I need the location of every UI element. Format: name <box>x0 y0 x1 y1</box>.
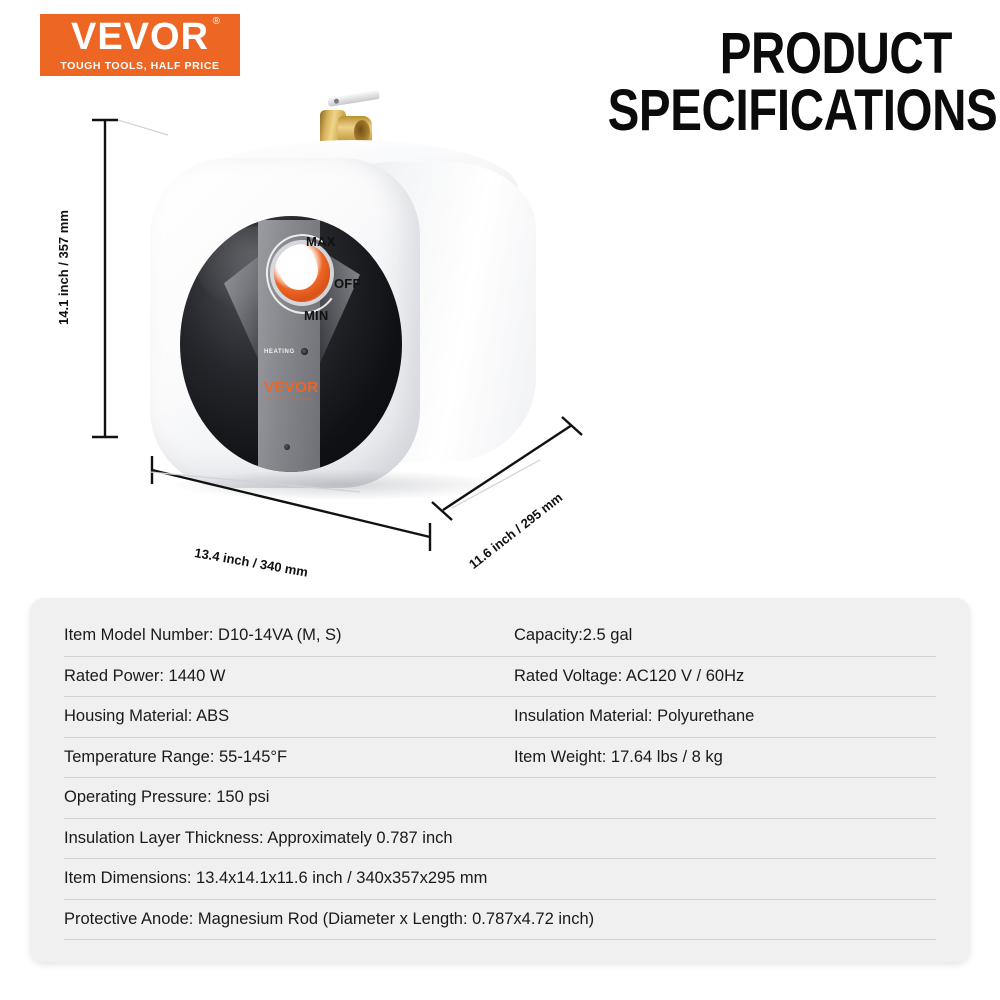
spec-capacity: Capacity:2.5 gal <box>500 616 936 656</box>
registered-trademark-icon: ® <box>213 17 221 27</box>
spec-item-model-number: Item Model Number: D10-14VA (M, S) <box>64 616 500 656</box>
spec-row: Insulation Layer Thickness: Approximatel… <box>64 819 936 860</box>
spec-row: Item Model Number: D10-14VA (M, S) Capac… <box>64 616 936 657</box>
spec-item-dimensions: Item Dimensions: 13.4x14.1x11.6 inch / 3… <box>64 859 936 899</box>
spec-row: Housing Material: ABS Insulation Materia… <box>64 697 936 738</box>
spec-rated-power: Rated Power: 1440 W <box>64 657 500 697</box>
specifications-panel: Item Model Number: D10-14VA (M, S) Capac… <box>30 598 970 962</box>
spec-insulation-material: Insulation Material: Polyurethane <box>500 697 936 737</box>
spec-row: Operating Pressure: 150 psi <box>64 778 936 819</box>
spec-housing-material: Housing Material: ABS <box>64 697 500 737</box>
spec-insulation-layer-thickness: Insulation Layer Thickness: Approximatel… <box>64 819 936 859</box>
spec-row: Rated Power: 1440 W Rated Voltage: AC120… <box>64 657 936 698</box>
spec-row: Temperature Range: 55-145°F Item Weight:… <box>64 738 936 779</box>
product-specification-page: VEVOR ® TOUGH TOOLS, HALF PRICE PRODUCT … <box>0 0 1000 1000</box>
spec-row: Protective Anode: Magnesium Rod (Diamete… <box>64 900 936 941</box>
product-illustration: MAX OFF MIN HEATING VEVOR TOUGH TOOLS, H… <box>0 40 660 600</box>
spec-temperature-range: Temperature Range: 55-145°F <box>64 738 500 778</box>
spec-row: Item Dimensions: 13.4x14.1x11.6 inch / 3… <box>64 859 936 900</box>
spec-item-weight: Item Weight: 17.64 lbs / 8 kg <box>500 738 936 778</box>
dimension-height-label: 14.1 inch / 357 mm <box>56 210 71 325</box>
spec-operating-pressure: Operating Pressure: 150 psi <box>64 778 936 818</box>
spec-rated-voltage: Rated Voltage: AC120 V / 60Hz <box>500 657 936 697</box>
spec-protective-anode: Protective Anode: Magnesium Rod (Diamete… <box>64 900 936 940</box>
